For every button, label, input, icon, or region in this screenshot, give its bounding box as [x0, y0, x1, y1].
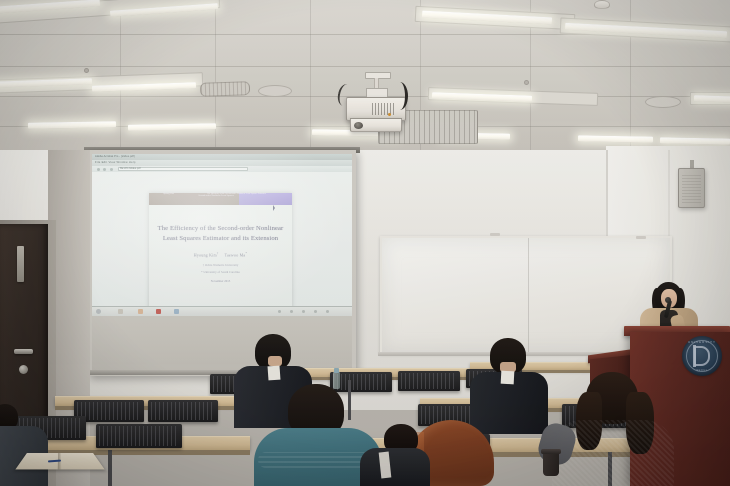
tray-icon[interactable] — [302, 310, 305, 313]
door-plate — [17, 246, 24, 282]
ceiling-diffuser — [258, 85, 292, 97]
microphone-head-icon — [665, 297, 671, 303]
start-orb-icon[interactable] — [96, 309, 101, 314]
projected-image: Adobe Acrobat Pro - [slides.pdf] File Ed… — [92, 154, 352, 316]
sprinkler-icon — [524, 80, 529, 85]
tray-icon[interactable] — [290, 310, 293, 313]
tray-icon[interactable] — [326, 310, 329, 313]
ceiling-light — [28, 121, 116, 129]
browser-menu-items[interactable]: File Edit View Window Help — [95, 161, 136, 164]
reload-icon[interactable] — [110, 168, 113, 171]
emblem-monogram-icon — [694, 346, 710, 366]
back-icon[interactable] — [97, 168, 100, 171]
bottle-cap — [334, 368, 339, 373]
explorer-icon[interactable] — [138, 309, 143, 314]
mouse-cursor-icon — [273, 205, 275, 211]
slide-footer-right-text: The Efficiency of the Second-order Nonli… — [207, 193, 266, 312]
screen-lower-blank — [92, 316, 352, 372]
university-emblem: UNIVERSITY SEOUL — [682, 336, 722, 376]
slide-footer-left-text: Hyoung Kim — [163, 193, 174, 312]
coffee-cup — [543, 452, 559, 476]
chair[interactable] — [398, 371, 460, 391]
seminar-room-photo: Adobe Acrobat Pro - [slides.pdf] File Ed… — [0, 0, 730, 486]
sprinkler-icon — [84, 68, 89, 73]
media-icon[interactable] — [174, 309, 179, 314]
ceiling-light — [660, 137, 730, 144]
speaker-grille-icon — [682, 173, 701, 203]
air-vent — [200, 81, 250, 97]
smoke-detector-icon — [594, 0, 610, 9]
address-value: file:///C:/slides.pdf — [120, 167, 140, 170]
ceiling-light — [578, 135, 653, 142]
browser-window-title: Adobe Acrobat Pro - [slides.pdf] — [95, 155, 135, 158]
tray-icon[interactable] — [278, 310, 281, 313]
ceiling-diffuser — [645, 96, 681, 108]
chair[interactable] — [148, 400, 218, 422]
emblem-bottom-text: SEOUL — [682, 369, 722, 372]
door-handle[interactable] — [14, 349, 33, 354]
tray-icon[interactable] — [314, 310, 317, 313]
projected-taskbar — [92, 306, 352, 316]
chair[interactable] — [96, 424, 182, 448]
pdf-viewer-area: Second-order Nonlinear Least Squares The… — [92, 172, 352, 306]
water-bottle — [333, 372, 340, 389]
wall-speaker — [678, 168, 705, 208]
projector-lens-icon — [354, 122, 363, 129]
door-lock-icon[interactable] — [19, 365, 28, 374]
presentation-slide: Second-order Nonlinear Least Squares The… — [149, 193, 292, 313]
folder-icon[interactable] — [118, 309, 123, 314]
coffee-cup-lid — [541, 449, 561, 454]
pdf-icon[interactable] — [156, 309, 161, 314]
whiteboard — [380, 236, 672, 354]
ceiling-light — [128, 123, 216, 131]
emblem-top-text: UNIVERSITY — [682, 340, 722, 344]
ceiling — [0, 0, 730, 160]
forward-icon[interactable] — [103, 168, 106, 171]
